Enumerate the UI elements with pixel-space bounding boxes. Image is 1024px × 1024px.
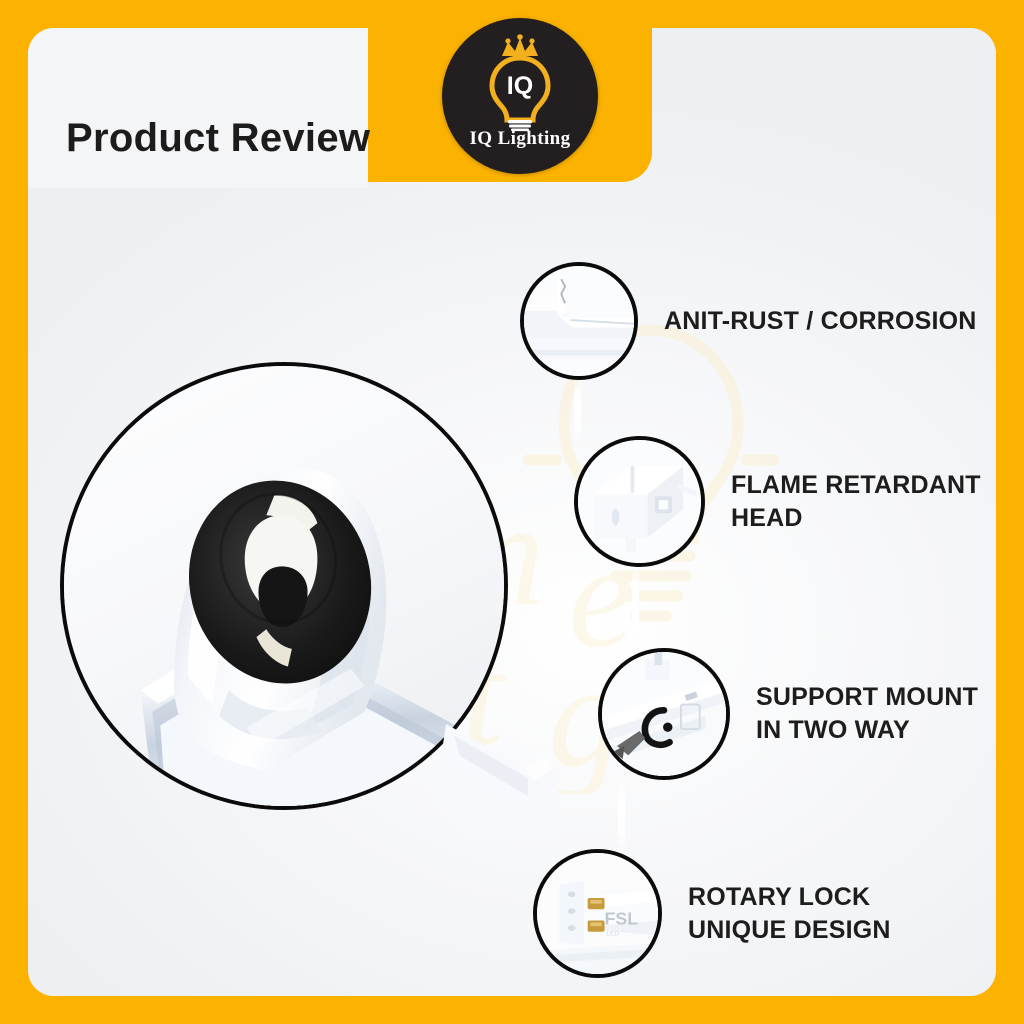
brand-name-text: IQ Lighting [469,128,570,150]
header-white-wedge [28,28,368,188]
feature-label-support-mount: SUPPORT MOUNT IN TWO WAY [756,681,978,747]
bulb-initials: IQ [507,72,533,100]
product-photo-housing-edge [524,266,634,376]
feature-image-rotary-lock: FSL LED [533,849,662,978]
feature-row-flame-retardant: FLAME RETARDANT HEAD [574,436,981,567]
fsl-brand-text: FSL [605,908,639,928]
feature-label-rotary-lock: ROTARY LOCK UNIQUE DESIGN [688,881,891,947]
crowned-lightbulb-icon: IQ [478,34,562,132]
page-title: Product Review [66,116,370,161]
product-photo-mount-bracket [602,652,726,776]
product-photo-end-cap [578,440,701,563]
product-photo-rotary-lock: FSL LED [537,853,658,974]
feature-image-flame-retardant [574,436,705,567]
feature-label-anti-rust: ANIT-RUST / CORROSION [664,305,977,338]
feature-row-rotary-lock: FSL LED ROTARY LOCK UNIQUE DESIGN [533,849,891,978]
brand-logo-badge: IQ IQ Lighting [442,18,598,174]
feature-image-support-mount [598,648,730,780]
feature-image-anti-rust [520,262,638,380]
product-photo-lampholder [64,366,504,806]
feature-row-support-mount: SUPPORT MOUNT IN TWO WAY [598,648,978,780]
feature-label-flame-retardant: FLAME RETARDANT HEAD [731,469,981,535]
hero-product-image [60,362,508,810]
feature-row-anti-rust: ANIT-RUST / CORROSION [520,262,977,380]
svg-text:LED: LED [606,931,619,938]
product-review-poster: n e t g [0,0,1024,1024]
